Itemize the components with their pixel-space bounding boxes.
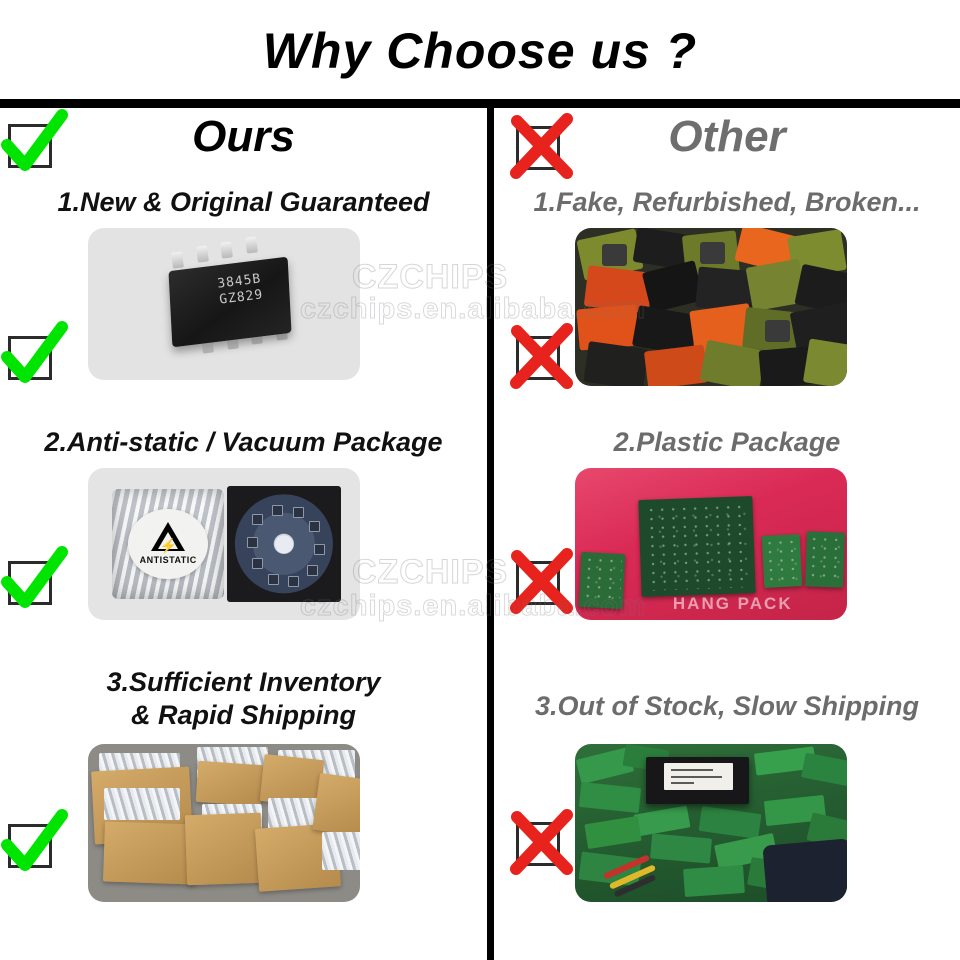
column-ours: Ours 1.New & Original Guaranteed — [0, 108, 487, 960]
vertical-divider — [487, 108, 494, 960]
lightning-bolt-icon: ⚡ — [160, 539, 177, 553]
column-label-other: Other — [494, 112, 960, 162]
cross-icon-other-2 — [516, 561, 560, 605]
antistatic-label: ⚡ ANTISTATIC — [128, 509, 208, 579]
component-reel-box — [227, 486, 341, 602]
row-ours-3: 3.Sufficient Inventory & Rapid Shipping — [0, 666, 487, 946]
row-other-2: 2.Plastic Package — [494, 426, 960, 676]
antistatic-bag: ⚡ ANTISTATIC — [112, 489, 224, 598]
photo-antistatic-package: ⚡ ANTISTATIC — [88, 468, 360, 620]
row-ours-1: 1.New & Original Guaranteed 384 — [0, 186, 487, 436]
cross-icon-other-3 — [516, 822, 560, 866]
row-title-other-1: 1.Fake, Refurbished, Broken... — [494, 186, 960, 219]
photo-plastic-package: HANG PACK — [575, 468, 847, 620]
row-title-ours-3: 3.Sufficient Inventory & Rapid Shipping — [0, 666, 487, 732]
row-title-ours-2: 2.Anti-static / Vacuum Package — [0, 426, 487, 459]
row-other-1: 1.Fake, Refurbished, Broken... — [494, 186, 960, 436]
plastic-bag-text: HANG PACK — [673, 594, 793, 614]
column-other: Other 1.Fake, Refurbished, Broken... — [494, 108, 960, 960]
module-label — [664, 763, 732, 790]
page-title: Why Choose us ? — [0, 22, 960, 80]
antistatic-caption: ANTISTATIC — [140, 555, 197, 565]
column-header-other: Other — [494, 112, 960, 184]
check-icon-ours-1 — [8, 336, 52, 380]
row-other-3: 3.Out of Stock, Slow Shipping — [494, 690, 960, 960]
black-module — [646, 757, 749, 804]
row-title-other-3: 3.Out of Stock, Slow Shipping — [494, 690, 960, 723]
cross-icon-other-1 — [516, 336, 560, 380]
check-icon-ours-2 — [8, 561, 52, 605]
photo-ic-chip: 3845BGZ829 — [88, 228, 360, 380]
photo-salvaged-chips-pile — [575, 228, 847, 386]
comparison-infographic: Why Choose us ? Ours 1.New & Original Gu… — [0, 0, 960, 960]
column-label-ours: Ours — [0, 112, 487, 162]
photo-scrap-pcb-pile — [575, 744, 847, 902]
column-header-ours: Ours — [0, 112, 487, 184]
row-ours-2: 2.Anti-static / Vacuum Package ⚡ ANTISTA… — [0, 426, 487, 676]
horizontal-divider — [0, 99, 960, 108]
check-icon-ours-3 — [8, 824, 52, 868]
photo-shipping-cartons — [88, 744, 360, 902]
row-title-ours-1: 1.New & Original Guaranteed — [0, 186, 487, 219]
row-title-other-2: 2.Plastic Package — [494, 426, 960, 459]
